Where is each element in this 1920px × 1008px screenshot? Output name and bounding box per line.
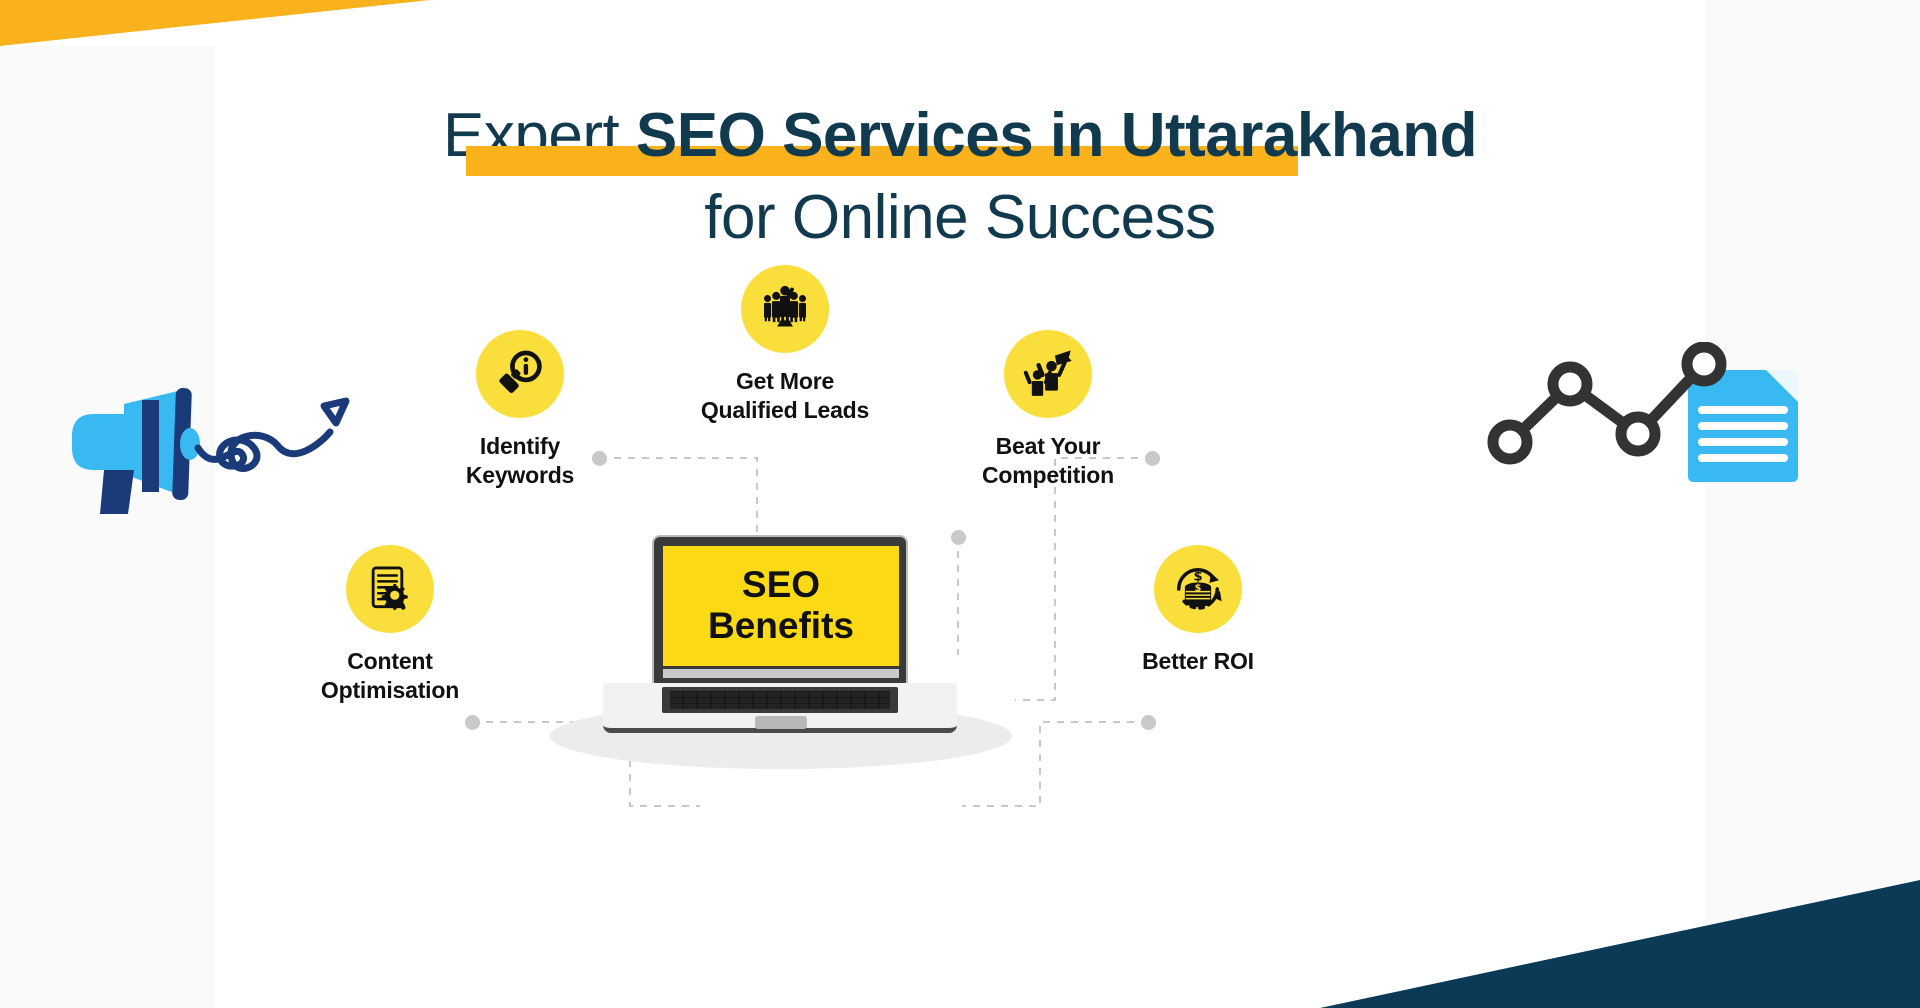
people-group-icon <box>757 281 813 337</box>
node-icon-badge <box>741 265 829 353</box>
line-chart-document-icon <box>1480 342 1810 502</box>
connector-dot-content <box>465 715 480 730</box>
svg-text:$: $ <box>1195 583 1202 594</box>
connector-dot-beat <box>1145 451 1160 466</box>
laptop-screen: SEO Benefits <box>663 546 899 666</box>
node-label: Identify Keywords <box>430 432 610 490</box>
node-icon-badge <box>476 330 564 418</box>
screen-headline: SEO Benefits <box>708 565 854 646</box>
node-label: Content Optimisation <box>300 647 480 705</box>
magnifier-info-icon <box>493 347 547 401</box>
people-flag-icon <box>1020 346 1076 402</box>
connector-dot-roi <box>1141 715 1156 730</box>
node-icon-badge <box>1004 330 1092 418</box>
node-icon-badge <box>346 545 434 633</box>
node-label: Better ROI <box>1108 647 1288 676</box>
node-better-roi[interactable]: $ $ Better ROI <box>1108 545 1288 676</box>
node-icon-badge: $ $ <box>1154 545 1242 633</box>
laptop-bezel-chin <box>663 669 899 678</box>
node-get-more-qualified-leads[interactable]: Get More Qualified Leads <box>690 265 880 425</box>
coins-refresh-icon: $ $ <box>1170 561 1226 617</box>
megaphone-icon <box>62 388 392 518</box>
document-gear-icon <box>363 562 417 616</box>
laptop-trackpad <box>755 716 807 729</box>
laptop-keyboard <box>662 687 898 713</box>
node-label: Beat Your Competition <box>958 432 1138 490</box>
node-beat-your-competition[interactable]: Beat Your Competition <box>958 330 1138 490</box>
laptop-lid: SEO Benefits <box>652 535 908 685</box>
center-laptop[interactable]: SEO Benefits <box>545 535 1015 770</box>
node-identify-keywords[interactable]: Identify Keywords <box>430 330 610 490</box>
title-part-bold: SEO Services in Uttarakhand <box>636 101 1477 170</box>
node-label: Get More Qualified Leads <box>690 367 880 425</box>
infographic-canvas: Expert SEO Services in Uttarakhand for O… <box>0 0 1920 1008</box>
node-content-optimisation[interactable]: Content Optimisation <box>300 545 480 705</box>
